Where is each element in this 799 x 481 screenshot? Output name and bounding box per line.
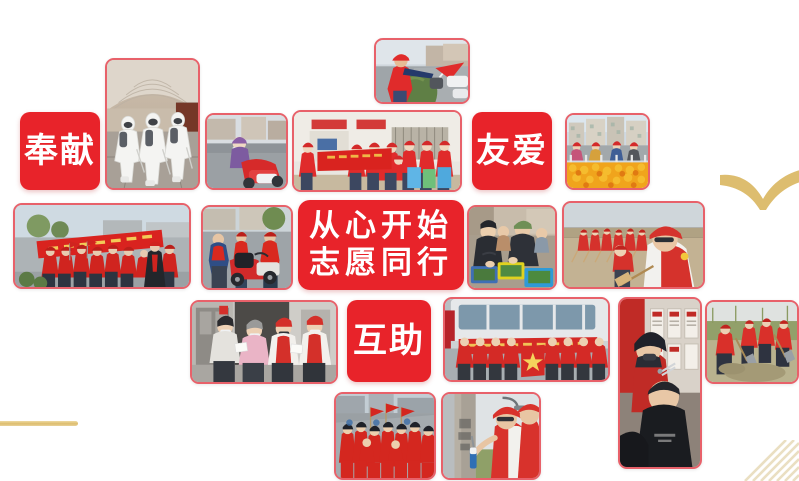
- photo-door-to-door-visit: [192, 302, 336, 382]
- tile-mutual-help[interactable]: 互助: [347, 300, 431, 382]
- tile-mutual-help-label: 互助: [353, 321, 425, 361]
- photo-flower-street: [567, 115, 648, 188]
- photo-haircut-service: [620, 299, 700, 467]
- photo-bus-group-photo: [445, 299, 608, 380]
- photo-disinfection-team: [107, 60, 198, 188]
- photo-card-students-parade[interactable]: [334, 392, 436, 480]
- photo-card-traffic-volunteer[interactable]: [374, 38, 470, 104]
- photo-card-tricycle-repair[interactable]: [201, 205, 293, 290]
- tile-dedication[interactable]: 奉献: [20, 112, 100, 190]
- photo-card-bus-group-photo[interactable]: [443, 297, 610, 382]
- photo-card-vegetable-sorting[interactable]: [467, 205, 557, 290]
- gold-swoosh-decoration: [718, 165, 799, 213]
- photo-card-pole-cleaning[interactable]: [441, 392, 541, 480]
- photo-march-banner: [15, 205, 189, 287]
- photo-students-parade: [336, 394, 434, 478]
- tile-friendship[interactable]: 友爱: [472, 112, 552, 190]
- photo-card-sweeping-road[interactable]: [562, 201, 705, 289]
- gold-line-decoration-left: [0, 421, 78, 426]
- photo-tricycle-repair: [203, 207, 291, 288]
- photo-card-haircut-service[interactable]: [618, 297, 702, 469]
- photo-card-elderly-scooter-help[interactable]: [205, 113, 288, 190]
- photo-sweeping-road: [564, 203, 703, 287]
- photo-traffic-volunteer: [376, 40, 468, 102]
- photo-card-service-team-banner[interactable]: [292, 110, 462, 192]
- photo-card-disinfection-team[interactable]: [105, 58, 200, 190]
- photo-service-team-banner: [294, 112, 460, 190]
- photo-elderly-scooter-help: [207, 115, 286, 188]
- tile-friendship-label: 友爱: [476, 131, 548, 171]
- photo-card-flower-street[interactable]: [565, 113, 650, 190]
- slogan-line-1: 从心开始: [309, 208, 453, 245]
- photo-pole-cleaning: [443, 394, 539, 478]
- photo-card-tree-planting[interactable]: [705, 300, 799, 384]
- tile-slogan[interactable]: 从心开始 志愿同行: [298, 200, 464, 290]
- gold-hatch-decoration: [735, 440, 799, 481]
- slogan-line-2: 志愿同行: [309, 245, 453, 282]
- tile-dedication-label: 奉献: [24, 131, 96, 171]
- photo-card-march-banner[interactable]: [13, 203, 191, 289]
- photo-tree-planting: [707, 302, 797, 382]
- photo-vegetable-sorting: [469, 207, 555, 288]
- photo-card-door-to-door-visit[interactable]: [190, 300, 338, 384]
- volunteer-poster: 奉献: [0, 0, 799, 481]
